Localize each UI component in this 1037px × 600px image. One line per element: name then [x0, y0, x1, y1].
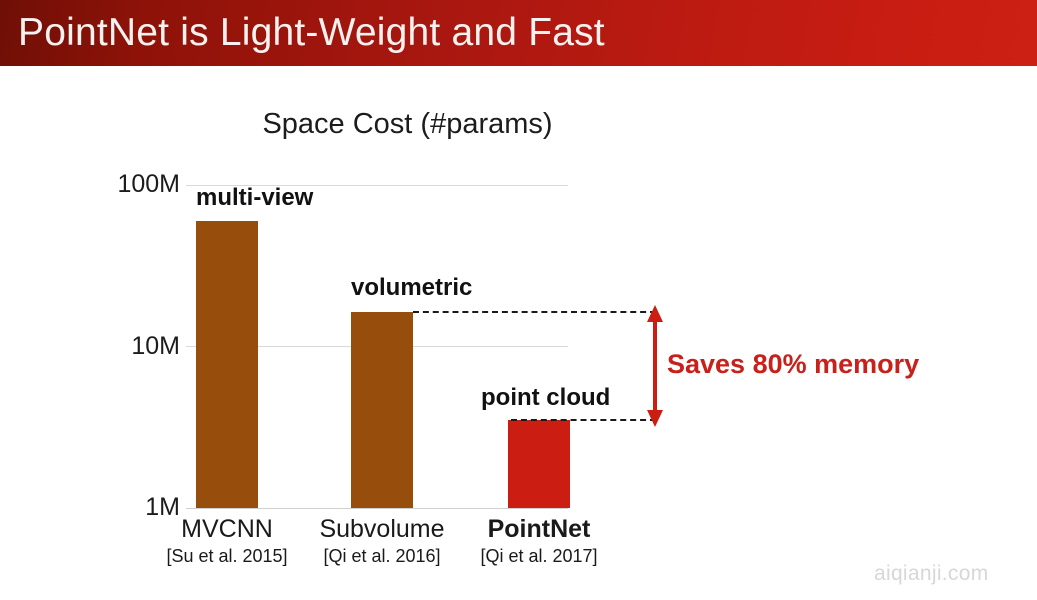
x-axis-category-pointnet: PointNet [Qi et al. 2017]: [449, 514, 629, 568]
page-title: PointNet is Light-Weight and Fast: [18, 4, 918, 62]
y-axis-tick-100m-label: 100M: [80, 170, 180, 199]
dashed-leader-volumetric: [413, 311, 656, 313]
bar-label-point-cloud: point cloud: [481, 384, 610, 412]
x-axis-category-mvcnn-name: MVCNN: [137, 514, 317, 544]
axis-baseline: [186, 508, 568, 509]
bar-label-volumetric: volumetric: [351, 274, 472, 302]
dashed-leader-point-cloud: [511, 419, 656, 421]
x-axis-category-mvcnn-citation: [Su et al. 2015]: [137, 544, 317, 568]
bar-subvolume: [351, 312, 413, 508]
watermark: aiqianji.com: [874, 562, 989, 586]
x-axis-category-pointnet-name: PointNet: [449, 514, 629, 544]
bar-chart: Space Cost (#params) 100M 10M 1M multi-v…: [0, 66, 1037, 600]
x-axis-category-subvolume-citation: [Qi et al. 2016]: [292, 544, 472, 568]
x-axis-category-subvolume: Subvolume [Qi et al. 2016]: [292, 514, 472, 568]
bar-mvcnn: [196, 221, 258, 508]
x-axis-category-pointnet-citation: [Qi et al. 2017]: [449, 544, 629, 568]
bar-pointnet: [508, 420, 570, 508]
y-axis-tick-10m-label: 10M: [80, 332, 180, 361]
bar-label-multi-view: multi-view: [196, 184, 313, 212]
y-axis-tick-10m: 10M: [22, 332, 180, 362]
savings-annotation-label: Saves 80% memory: [667, 349, 919, 380]
x-axis-category-subvolume-name: Subvolume: [292, 514, 472, 544]
slide: PointNet is Light-Weight and Fast Space …: [0, 0, 1037, 600]
y-axis-tick-100m: 100M: [22, 170, 180, 200]
chart-title: Space Cost (#params): [170, 108, 645, 141]
header-banner: PointNet is Light-Weight and Fast: [0, 0, 1037, 66]
x-axis-category-mvcnn: MVCNN [Su et al. 2015]: [137, 514, 317, 568]
